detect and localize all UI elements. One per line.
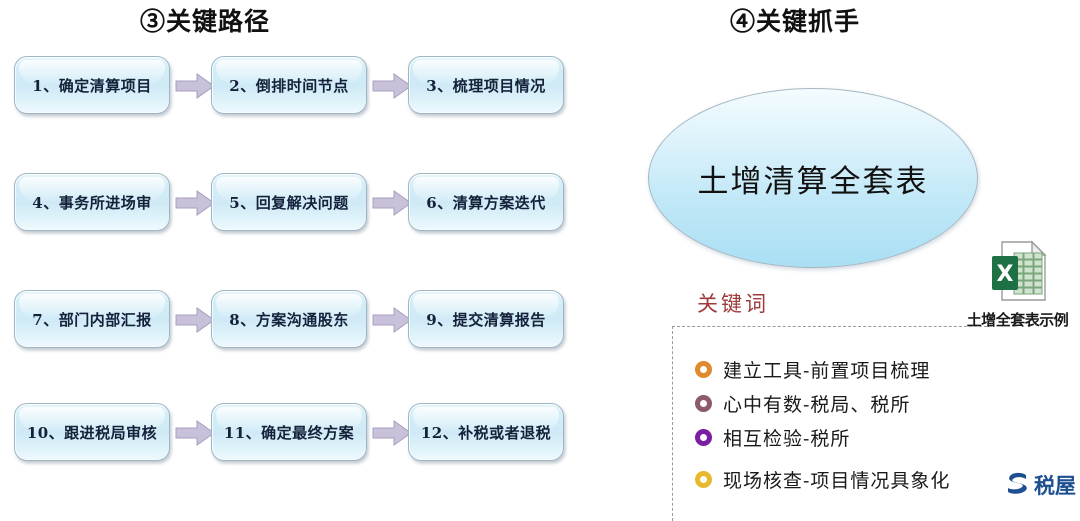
flow-step-7[interactable]: 7、部门内部汇报	[14, 290, 170, 348]
flow-step-9[interactable]: 9、提交清算报告	[408, 290, 564, 348]
flow-step-label: 2、倒排时间节点	[229, 75, 348, 96]
flow-step-label: 7、部门内部汇报	[32, 309, 151, 330]
flow-step-4[interactable]: 4、事务所进场审	[14, 173, 170, 231]
svg-text:X: X	[996, 262, 1013, 287]
flow-step-label: 8、方案沟通股东	[229, 309, 348, 330]
flow-step-label: 3、梳理项目情况	[426, 75, 545, 96]
flow-step-1[interactable]: 1、确定清算项目	[14, 56, 170, 114]
list-item[interactable]: 现场核查-项目情况具象化	[695, 462, 950, 496]
list-item-label: 心中有数-税局、税所	[723, 390, 910, 417]
flow-chart: 1、确定清算项目 2、倒排时间节点 3、梳理项目情况 4、事务所进场审 5、回复…	[0, 0, 600, 511]
list-item[interactable]: 建立工具-前置项目梳理	[695, 352, 950, 386]
key-handle-ellipse[interactable]: 土增清算全套表	[648, 88, 978, 268]
ring-bullet-icon	[695, 395, 712, 412]
ellipse-label: 土增清算全套表	[698, 156, 929, 201]
flow-arrow-5-6	[372, 189, 412, 217]
flow-step-label: 9、提交清算报告	[426, 309, 545, 330]
keywords-list: 建立工具-前置项目梳理 心中有数-税局、税所 相互检验-税所 现场核查-项目情况…	[695, 352, 950, 496]
keywords-title: 关键词	[697, 288, 769, 318]
flow-step-label: 12、补税或者退税	[421, 422, 551, 443]
page-title-right: ④关键抓手	[730, 2, 860, 38]
flow-step-6[interactable]: 6、清算方案迭代	[408, 173, 564, 231]
flow-step-11[interactable]: 11、确定最终方案	[211, 403, 367, 461]
flow-arrow-8-9	[372, 306, 412, 334]
flow-step-label: 10、跟进税局审核	[27, 422, 157, 443]
ring-bullet-icon	[695, 429, 712, 446]
list-item[interactable]: 相互检验-税所	[695, 420, 950, 454]
ring-bullet-icon	[695, 471, 712, 488]
flow-step-label: 1、确定清算项目	[32, 75, 151, 96]
flow-arrow-11-12	[372, 419, 412, 447]
attachment-excel[interactable]: X 土增全套表示例	[955, 240, 1080, 330]
flow-arrow-4-5	[175, 189, 215, 217]
excel-file-icon: X	[988, 287, 1048, 306]
flow-step-label: 11、确定最终方案	[224, 422, 354, 443]
list-item-label: 现场核查-项目情况具象化	[723, 466, 950, 493]
flow-step-12[interactable]: 12、补税或者退税	[408, 403, 564, 461]
flow-step-label: 6、清算方案迭代	[426, 192, 545, 213]
ring-bullet-icon	[695, 361, 712, 378]
flow-step-3[interactable]: 3、梳理项目情况	[408, 56, 564, 114]
flow-arrow-7-8	[175, 306, 215, 334]
list-item[interactable]: 心中有数-税局、税所	[695, 386, 950, 420]
list-item-label: 建立工具-前置项目梳理	[723, 356, 930, 383]
s-logo-icon	[1004, 469, 1031, 500]
list-item-label: 相互检验-税所	[723, 424, 850, 451]
flow-step-label: 5、回复解决问题	[229, 192, 348, 213]
watermark: 税屋	[1004, 469, 1076, 500]
flow-step-5[interactable]: 5、回复解决问题	[211, 173, 367, 231]
flow-step-2[interactable]: 2、倒排时间节点	[211, 56, 367, 114]
flow-step-10[interactable]: 10、跟进税局审核	[14, 403, 170, 461]
flow-arrow-10-11	[175, 419, 215, 447]
flow-step-label: 4、事务所进场审	[32, 192, 151, 213]
flow-arrow-1-2	[175, 72, 215, 100]
watermark-text: 税屋	[1034, 470, 1076, 500]
flow-step-8[interactable]: 8、方案沟通股东	[211, 290, 367, 348]
flow-arrow-2-3	[372, 72, 412, 100]
